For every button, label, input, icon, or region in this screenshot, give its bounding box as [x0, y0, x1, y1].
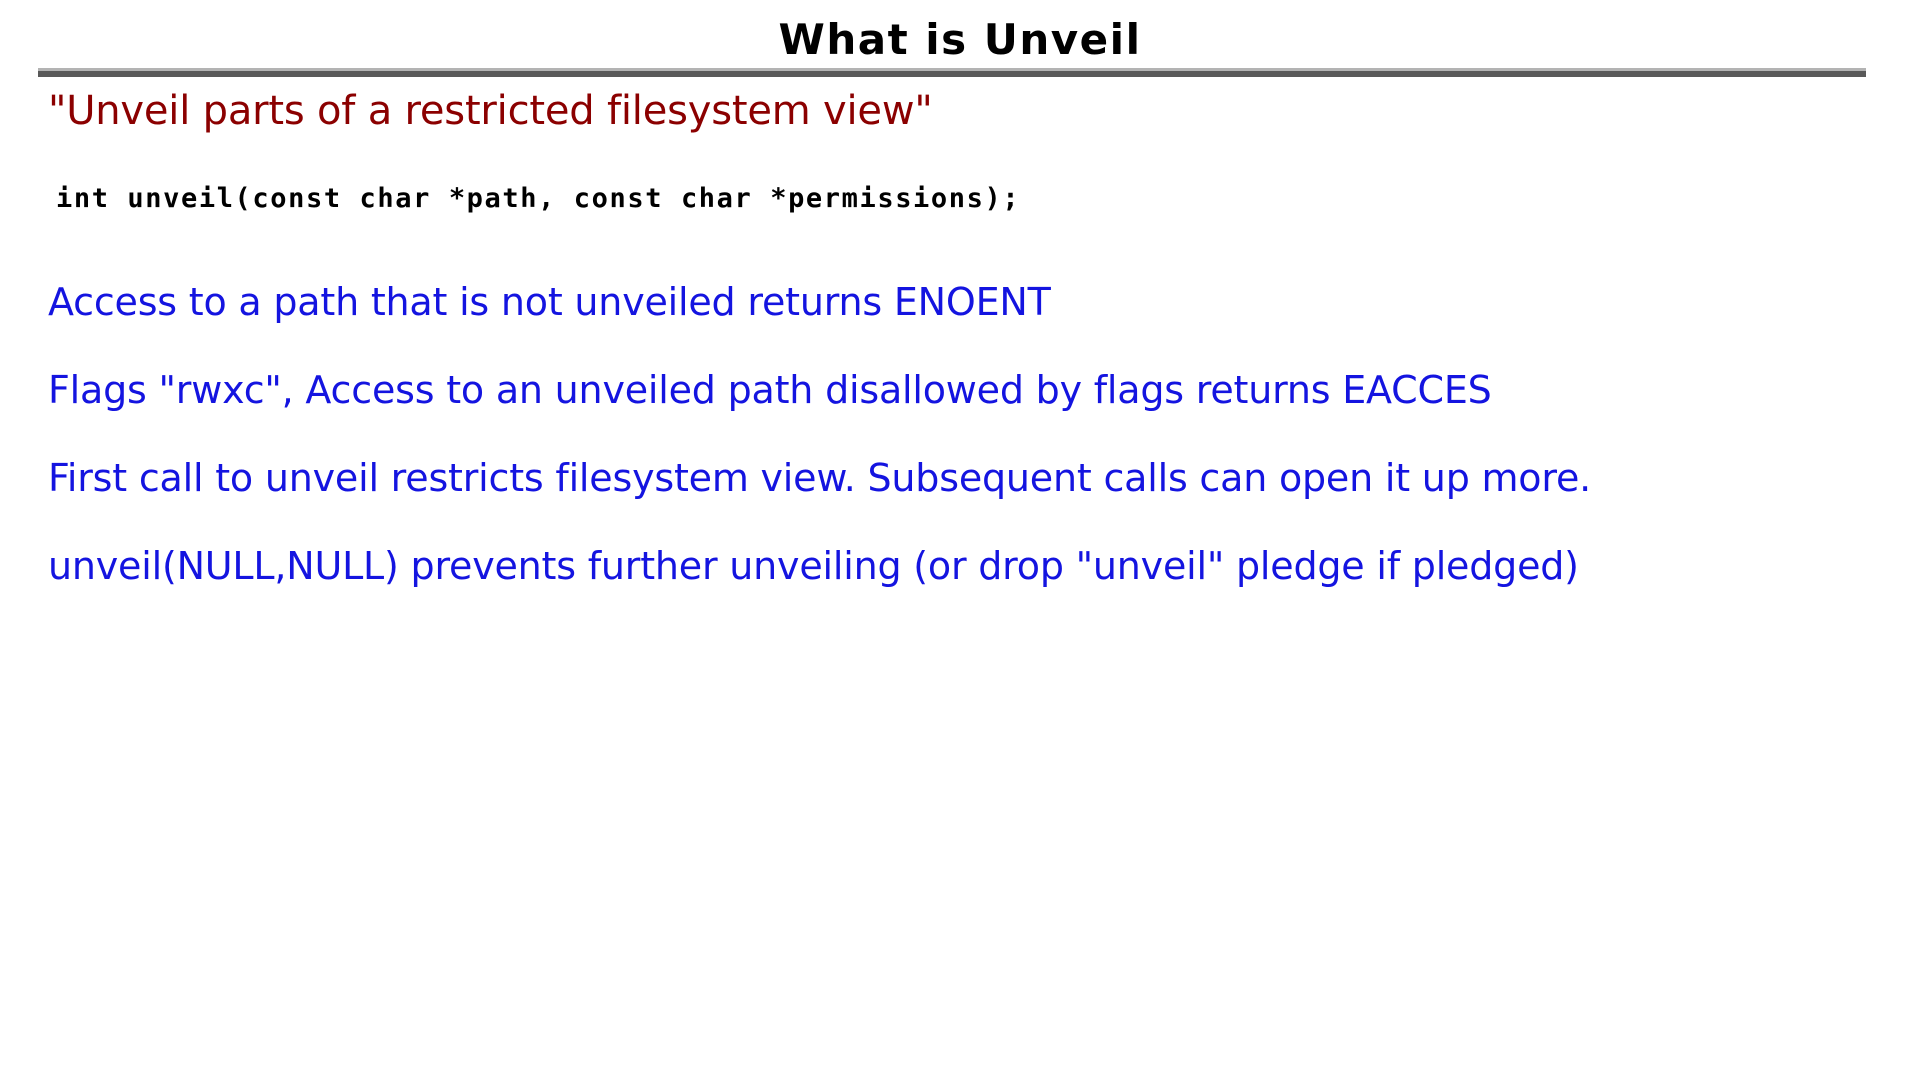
bullet-item-4: unveil(NULL,NULL) prevents further unvei…: [48, 542, 1579, 590]
bullet-item-1: Access to a path that is not unveiled re…: [48, 278, 1051, 326]
code-signature: int unveil(const char *path, const char …: [56, 182, 1020, 216]
page-title: What is Unveil: [0, 16, 1920, 64]
headline-quote: "Unveil parts of a restricted filesystem…: [48, 86, 933, 136]
slide-canvas: What is Unveil "Unveil parts of a restri…: [0, 0, 1920, 1080]
bullet-item-3: First call to unveil restricts filesyste…: [48, 454, 1591, 502]
bullet-item-2: Flags "rwxc", Access to an unveiled path…: [48, 366, 1492, 414]
slide-body: "Unveil parts of a restricted filesystem…: [0, 86, 1920, 786]
title-divider: [38, 68, 1866, 77]
